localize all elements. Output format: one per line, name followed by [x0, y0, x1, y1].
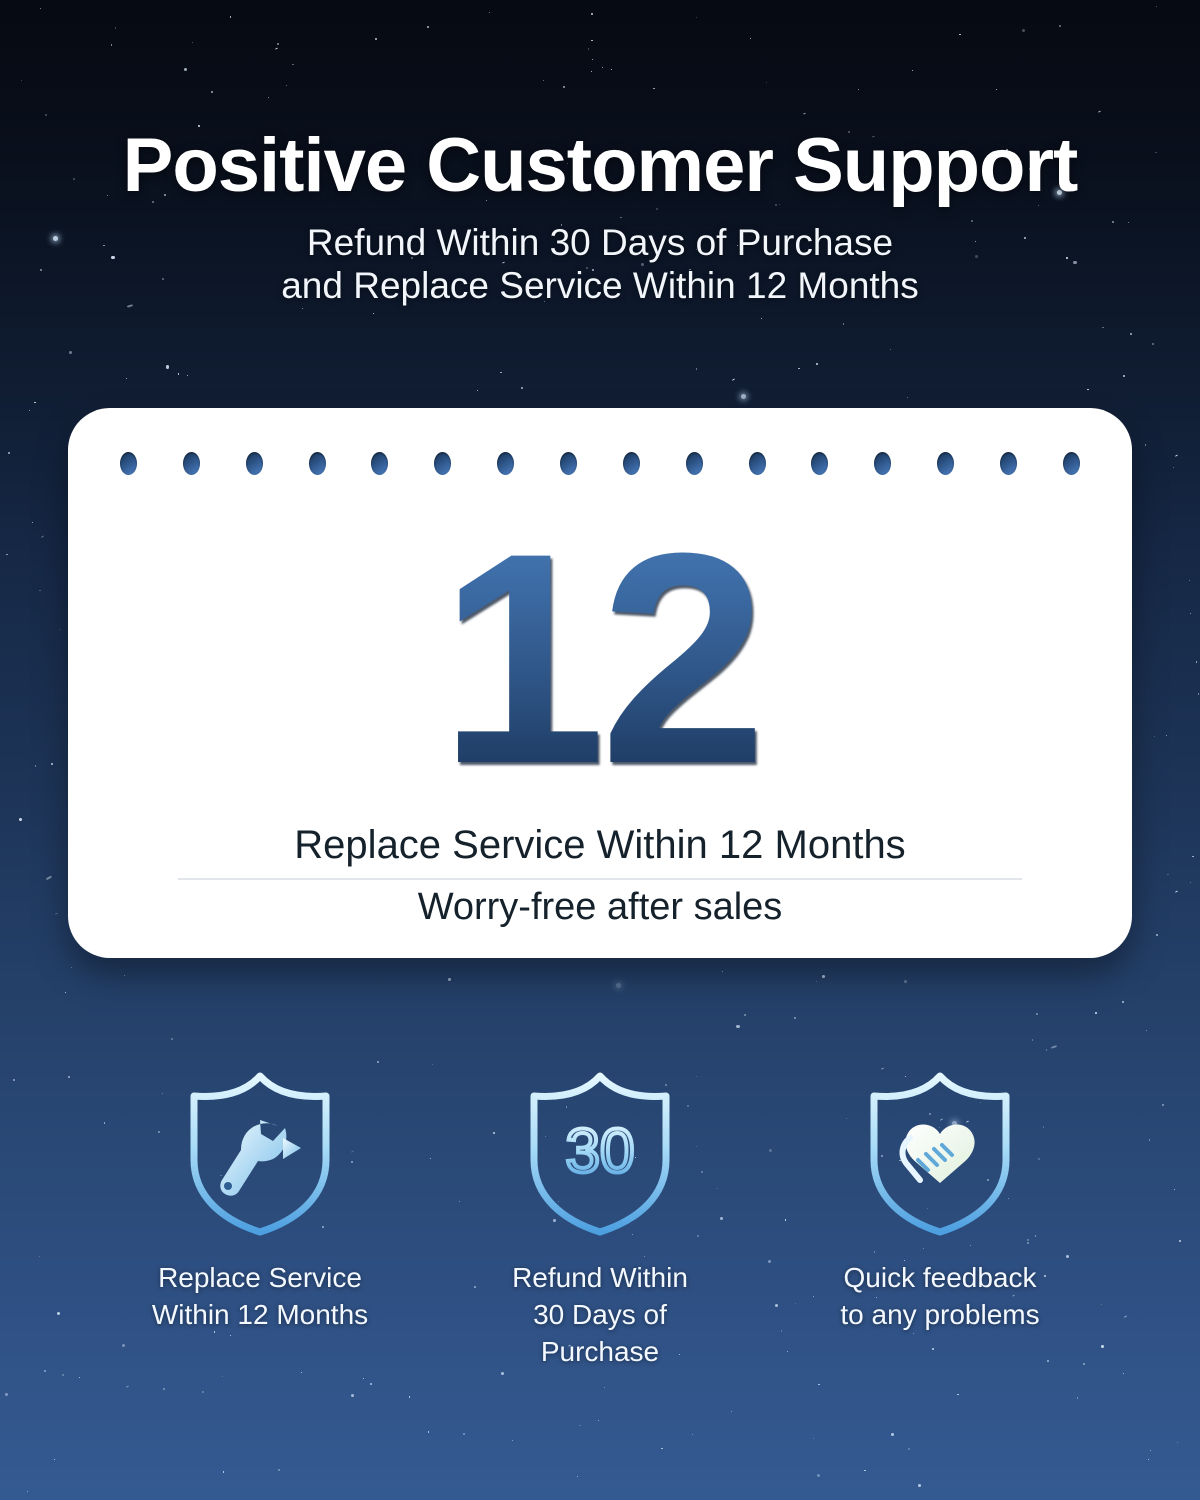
star: [19, 818, 22, 821]
badge-caption-line-1: Quick feedback: [815, 1260, 1065, 1297]
warranty-months-number: 12: [68, 508, 1132, 808]
star: [761, 318, 762, 319]
star: [890, 349, 891, 350]
star: [59, 629, 60, 630]
star: [111, 44, 112, 45]
star: [588, 48, 589, 49]
star: [1046, 1049, 1047, 1050]
star: [230, 16, 231, 17]
star: [741, 394, 746, 399]
star: [126, 378, 127, 379]
star: [39, 590, 40, 591]
star: [816, 981, 817, 982]
punch-hole: [434, 452, 451, 475]
star: [1145, 444, 1146, 445]
star: [563, 86, 565, 88]
star: [34, 402, 35, 403]
subtitle-line-1: Refund Within 30 Days of Purchase: [0, 222, 1200, 265]
star: [1148, 1459, 1149, 1460]
page-subtitle: Refund Within 30 Days of Purchase and Re…: [0, 222, 1200, 308]
star: [907, 397, 908, 398]
star: [184, 68, 187, 71]
star: [591, 71, 592, 72]
star: [798, 368, 799, 369]
star: [373, 313, 374, 314]
star: [604, 1387, 605, 1388]
star: [1122, 1001, 1124, 1003]
star: [29, 410, 30, 411]
star: [1149, 1139, 1150, 1140]
star: [1190, 882, 1191, 883]
star: [363, 1378, 364, 1379]
star: [54, 1459, 55, 1460]
punch-hole: [623, 452, 640, 475]
star: [463, 1433, 465, 1435]
star: [71, 967, 72, 968]
star: [1101, 1304, 1102, 1305]
star: [592, 59, 593, 60]
star: [1095, 1012, 1097, 1014]
star: [27, 1491, 28, 1492]
star: [908, 1448, 910, 1450]
star: [653, 88, 654, 89]
star: [178, 373, 179, 374]
punch-hole: [937, 452, 954, 475]
star: [1192, 856, 1193, 857]
star: [1032, 1039, 1033, 1040]
star: [69, 351, 72, 354]
star: [40, 8, 41, 9]
star: [448, 978, 451, 981]
star: [996, 89, 997, 90]
star: [1154, 736, 1155, 737]
star: [125, 1385, 129, 1388]
star: [1177, 1442, 1178, 1443]
star: [1198, 693, 1199, 694]
star: [1166, 735, 1167, 736]
star: [163, 1388, 165, 1390]
star: [912, 70, 913, 71]
star: [661, 1448, 662, 1449]
star: [21, 80, 22, 81]
star: [512, 1440, 513, 1441]
star: [692, 1434, 693, 1435]
star: [843, 323, 844, 324]
badge-caption-line-2: to any problems: [815, 1297, 1065, 1334]
shield-wrench-icon: [180, 1068, 340, 1238]
star: [591, 13, 593, 15]
star: [1189, 580, 1190, 581]
punch-hole: [874, 452, 891, 475]
star: [301, 1372, 302, 1373]
star: [1066, 1255, 1069, 1258]
star: [477, 390, 478, 391]
star: [211, 91, 212, 92]
punch-hole-row: [120, 450, 1080, 476]
card-divider: [178, 878, 1022, 880]
star: [731, 1411, 732, 1412]
star: [611, 69, 612, 70]
badge-caption-line-1: Refund Within: [475, 1260, 725, 1297]
star: [744, 1014, 745, 1015]
star: [1150, 1450, 1151, 1451]
star: [1156, 934, 1158, 936]
star: [277, 43, 279, 45]
punch-hole: [749, 452, 766, 475]
star: [1190, 613, 1191, 614]
warranty-card: 12 Replace Service Within 12 Months Worr…: [68, 408, 1132, 958]
star: [292, 64, 293, 65]
star: [39, 1256, 40, 1257]
star: [1077, 1397, 1078, 1398]
punch-hole: [183, 452, 200, 475]
star: [104, 1122, 105, 1123]
star: [1087, 389, 1088, 390]
star: [1196, 661, 1197, 662]
star: [286, 85, 287, 86]
star: [858, 89, 859, 90]
star: [427, 26, 429, 28]
star: [591, 40, 592, 41]
star: [1175, 454, 1179, 457]
punch-hole: [246, 452, 263, 475]
shield-30-days-icon: 30: [520, 1068, 680, 1238]
star: [1123, 1373, 1124, 1374]
star: [278, 1469, 280, 1471]
star: [351, 1394, 354, 1397]
punch-hole: [497, 452, 514, 475]
star: [957, 1394, 958, 1395]
star: [375, 38, 377, 40]
star: [1083, 1363, 1085, 1365]
star: [500, 372, 501, 373]
star: [46, 876, 52, 880]
badge-caption-line-2: Within 12 Months: [135, 1297, 385, 1334]
punch-hole: [120, 452, 137, 475]
page-title: Positive Customer Support: [0, 128, 1200, 204]
star: [62, 1374, 64, 1376]
star: [45, 114, 47, 116]
star: [1146, 1030, 1147, 1031]
star: [696, 368, 697, 369]
star: [489, 12, 490, 13]
star: [13, 1079, 15, 1081]
star: [736, 1025, 739, 1028]
star: [377, 1061, 379, 1063]
star: [816, 363, 818, 365]
badge-caption-refund: Refund Within 30 Days of Purchase: [475, 1260, 725, 1371]
star: [202, 1391, 204, 1393]
star: [1059, 25, 1061, 27]
star: [171, 1038, 173, 1040]
star: [122, 1344, 125, 1347]
star: [766, 82, 767, 83]
star: [5, 1393, 8, 1396]
star: [579, 1425, 580, 1426]
promo-graphic-root: Positive Customer Support Refund Within …: [0, 0, 1200, 1500]
star: [802, 113, 806, 115]
star: [813, 1438, 814, 1439]
star: [370, 1383, 372, 1385]
star: [904, 980, 907, 983]
star: [1156, 6, 1157, 7]
star: [1036, 1013, 1038, 1015]
card-subheadline: Worry-free after sales: [68, 886, 1132, 929]
star: [891, 1433, 894, 1436]
punch-hole: [1063, 452, 1080, 475]
star: [124, 975, 125, 976]
star: [1022, 29, 1025, 32]
badge-caption-replace-service: Replace Service Within 12 Months: [135, 1260, 385, 1334]
star: [65, 992, 66, 993]
star: [79, 1377, 80, 1378]
star: [428, 1431, 429, 1432]
star: [598, 1420, 599, 1421]
badge-row: Replace Service Within 12 Months 30 Refu…: [135, 1068, 1065, 1371]
punch-hole: [1000, 452, 1017, 475]
badge-number-30: 30: [566, 1117, 635, 1186]
star: [8, 452, 10, 454]
badge-quick-feedback: Quick feedback to any problems: [815, 1068, 1065, 1371]
star: [521, 387, 523, 389]
star: [602, 67, 603, 68]
header-block: Positive Customer Support Refund Within …: [0, 128, 1200, 308]
star: [268, 97, 269, 98]
star: [1174, 1189, 1175, 1190]
star: [41, 535, 45, 538]
star: [409, 1396, 410, 1397]
star: [794, 1017, 796, 1019]
star: [1173, 467, 1174, 468]
star: [51, 763, 53, 765]
star: [32, 522, 33, 523]
star: [1051, 1045, 1057, 1049]
badge-caption-line-2: 30 Days of Purchase: [475, 1297, 725, 1371]
subtitle-line-2: and Replace Service Within 12 Months: [0, 265, 1200, 308]
punch-hole: [811, 452, 828, 475]
punch-hole: [686, 452, 703, 475]
star: [1162, 1104, 1164, 1106]
star: [302, 308, 303, 309]
star: [1175, 890, 1179, 893]
star: [6, 554, 7, 555]
star: [1101, 1345, 1104, 1348]
star: [1102, 327, 1103, 328]
star: [35, 765, 36, 766]
punch-hole: [560, 452, 577, 475]
star: [750, 38, 751, 39]
star: [1124, 1315, 1128, 1318]
star: [1123, 375, 1125, 377]
star: [274, 48, 278, 51]
star: [192, 42, 193, 43]
star: [959, 34, 960, 35]
star: [822, 975, 825, 978]
star: [68, 1076, 70, 1078]
star: [166, 365, 169, 368]
star: [696, 17, 697, 18]
shield-handshake-heart-icon: [860, 1068, 1020, 1238]
badge-caption-quick-feedback: Quick feedback to any problems: [815, 1260, 1065, 1334]
star: [115, 27, 116, 28]
star: [1098, 111, 1102, 114]
badge-replace-service: Replace Service Within 12 Months: [135, 1068, 385, 1371]
star: [1179, 1240, 1181, 1242]
star: [918, 1484, 921, 1487]
star: [577, 1476, 578, 1477]
badge-caption-line-1: Replace Service: [135, 1260, 385, 1297]
punch-hole: [309, 452, 326, 475]
star: [432, 1064, 433, 1065]
star: [722, 971, 723, 972]
star: [864, 1470, 865, 1471]
star: [54, 912, 58, 914]
star: [44, 1370, 46, 1372]
star: [223, 1471, 224, 1472]
punch-hole: [371, 452, 388, 475]
star: [501, 1372, 504, 1375]
star: [1130, 333, 1132, 335]
star: [57, 1312, 60, 1315]
star: [187, 375, 188, 376]
star: [1152, 343, 1154, 345]
star: [818, 1384, 819, 1385]
star: [616, 983, 621, 988]
star: [543, 80, 544, 81]
star: [222, 1376, 223, 1377]
star: [732, 379, 736, 382]
star: [1167, 874, 1168, 875]
badge-refund-30-days: 30 Refund Within 30 Days of Purchase: [475, 1068, 725, 1371]
card-headline: Replace Service Within 12 Months: [68, 823, 1132, 868]
star: [817, 1474, 820, 1477]
